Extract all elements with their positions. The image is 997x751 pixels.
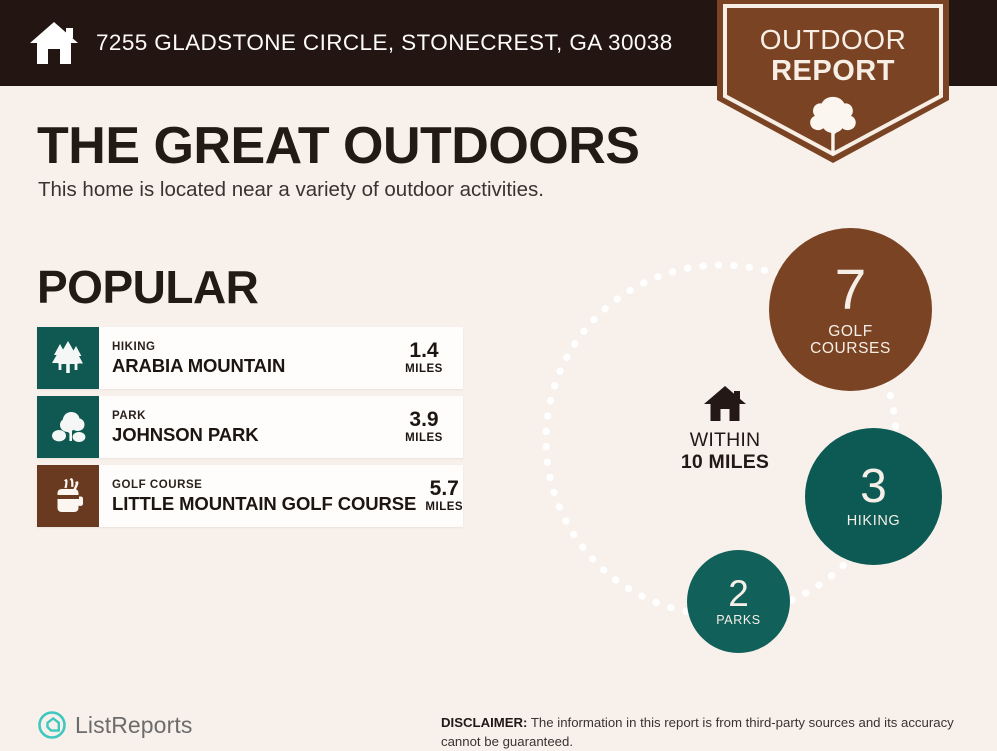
stat-label: HIKING: [847, 514, 901, 530]
park-tree-icon: [37, 396, 99, 458]
stat-circle-golf-courses[interactable]: 7 GOLF COURSES: [769, 228, 932, 391]
list-item-text: GOLF COURSE LITTLE MOUNTAIN GOLF COURSE: [99, 465, 416, 527]
golf-bag-icon: [37, 465, 99, 527]
stat-label: GOLF COURSES: [810, 323, 891, 357]
center-label-line1: WITHIN: [655, 429, 795, 451]
logo-text: ListReports: [75, 712, 192, 739]
list-item-category: GOLF COURSE: [112, 478, 416, 492]
list-item-distance: 3.9 MILES: [396, 396, 463, 458]
stat-count: 2: [728, 575, 749, 612]
list-item-name: LITTLE MOUNTAIN GOLF COURSE: [112, 493, 416, 514]
list-item-text: PARK JOHNSON PARK: [99, 396, 396, 458]
list-item[interactable]: HIKING ARABIA MOUNTAIN 1.4 MILES: [37, 327, 463, 389]
disclaimer-label: DISCLAIMER:: [441, 715, 527, 730]
list-item-category: PARK: [112, 409, 396, 423]
distance-unit: MILES: [405, 431, 443, 446]
distance-value: 5.7: [430, 478, 459, 500]
stat-label-line2: COURSES: [810, 340, 891, 357]
address-bar-content: 7255 GLADSTONE CIRCLE, STONECREST, GA 30…: [28, 0, 673, 86]
property-address: 7255 GLADSTONE CIRCLE, STONECREST, GA 30…: [96, 30, 673, 56]
popular-list: HIKING ARABIA MOUNTAIN 1.4 MILES PARK JO…: [37, 327, 463, 534]
badge-title-line2: REPORT: [717, 57, 949, 86]
list-item[interactable]: PARK JOHNSON PARK 3.9 MILES: [37, 396, 463, 458]
center-label-line2: 10 MILES: [655, 451, 795, 473]
distance-value: 1.4: [409, 340, 438, 362]
diagram-center-label: WITHIN 10 MILES: [655, 385, 795, 474]
badge-title-line1: OUTDOOR: [717, 26, 949, 54]
popular-section-title: POPULAR: [37, 260, 258, 314]
home-icon: [703, 385, 747, 423]
disclaimer: DISCLAIMER: The information in this repo…: [441, 714, 986, 751]
home-icon: [28, 20, 80, 66]
stat-label: PARKS: [716, 614, 760, 628]
list-item-name: JOHNSON PARK: [112, 424, 396, 445]
list-item-text: HIKING ARABIA MOUNTAIN: [99, 327, 396, 389]
listreports-house-tag-icon: [37, 710, 67, 740]
list-item[interactable]: GOLF COURSE LITTLE MOUNTAIN GOLF COURSE …: [37, 465, 463, 527]
stat-circle-parks[interactable]: 2 PARKS: [687, 550, 790, 653]
outdoor-report-badge: OUTDOOR REPORT: [717, 0, 949, 163]
list-item-distance: 5.7 MILES: [416, 465, 483, 527]
stat-count: 7: [835, 262, 867, 319]
distance-unit: MILES: [405, 362, 443, 377]
list-item-distance: 1.4 MILES: [396, 327, 463, 389]
stat-circle-hiking[interactable]: 3 HIKING: [805, 428, 942, 565]
pine-trees-icon: [37, 327, 99, 389]
page-subtitle: This home is located near a variety of o…: [38, 178, 544, 202]
stat-count: 3: [860, 463, 887, 511]
page-title: THE GREAT OUTDOORS: [37, 116, 639, 176]
within-10-miles-diagram: WITHIN 10 MILES 7 GOLF COURSES 3 HIKING …: [505, 210, 975, 670]
distance-unit: MILES: [425, 500, 463, 515]
list-item-name: ARABIA MOUNTAIN: [112, 355, 396, 376]
list-item-category: HIKING: [112, 340, 396, 354]
distance-value: 3.9: [409, 409, 438, 431]
stat-label-line1: GOLF: [828, 323, 873, 340]
listreports-logo[interactable]: ListReports: [37, 710, 192, 740]
